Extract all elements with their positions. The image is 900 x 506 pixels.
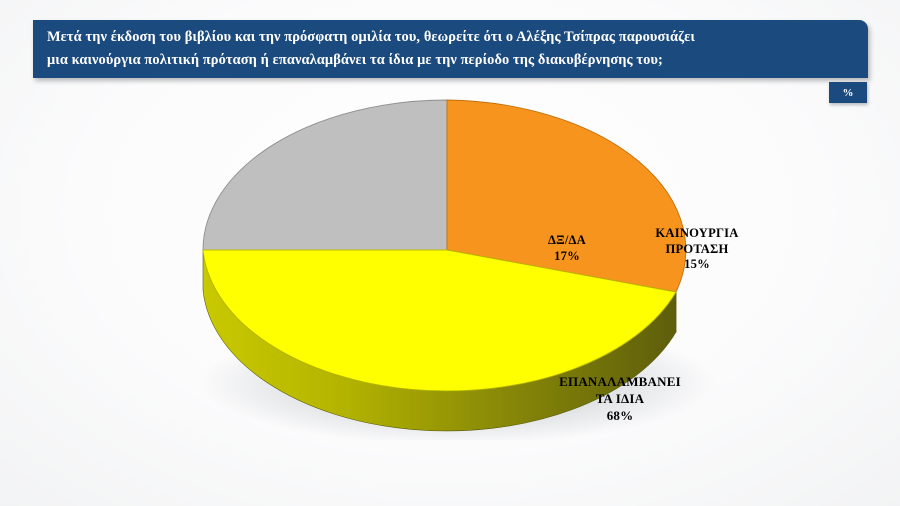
question-title-line-2: μια καινούργια πολιτική πρόταση ή επαναλ… — [47, 49, 854, 72]
slice-label-new-name-2: ΠΡΟΤΑΣΗ — [617, 242, 777, 258]
slice-label-same-name-1: ΕΠΑΝΑΛΑΜΒΑΝΕΙ — [510, 373, 730, 390]
question-title-line-1: Μετά την έκδοση του βιβλίου και την πρόσ… — [47, 26, 854, 49]
percent-unit-badge: % — [829, 82, 867, 103]
question-title-banner: Μετά την έκδοση του βιβλίου και την πρόσ… — [33, 20, 868, 78]
footer-bar: news alco The pulse of society — [0, 440, 900, 506]
slice-label-new-proposal: ΚΑΙΝΟΥΡΓΙΑ ΠΡΟΤΑΣΗ 15% — [617, 226, 777, 273]
slice-label-same-value: 68% — [510, 407, 730, 424]
pie-chart: ΔΞ/ΔΑ 17% ΚΑΙΝΟΥΡΓΙΑ ΠΡΟΤΑΣΗ 15% ΕΠΑΝΑΛΑ… — [170, 95, 730, 440]
slice-label-new-value: 15% — [617, 257, 777, 273]
slice-label-repeats-the-same: ΕΠΑΝΑΛΑΜΒΑΝΕΙ ΤΑ ΙΔΙΑ 68% — [510, 373, 730, 424]
slice-label-same-name-2: ΤΑ ΙΔΙΑ — [510, 390, 730, 407]
slice-label-new-name-1: ΚΑΙΝΟΥΡΓΙΑ — [617, 226, 777, 242]
slice-top-dont-know-dont-answer — [203, 100, 447, 250]
